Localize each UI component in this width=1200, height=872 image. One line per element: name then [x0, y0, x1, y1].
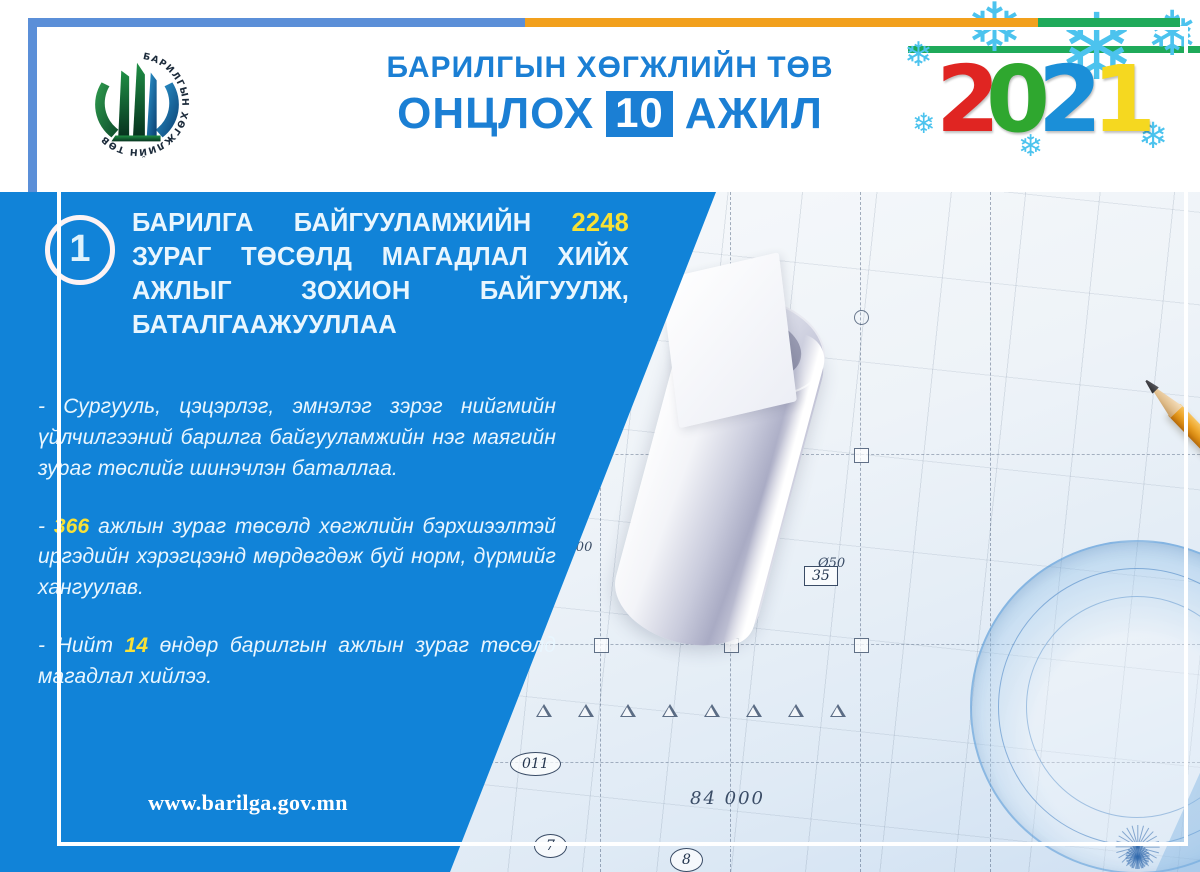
subtitle-before: ОНЦЛОХ: [397, 91, 594, 137]
header-titles: БАРИЛГЫН ХӨГЖЛИЙН ТӨВ ОНЦЛОХ 10 АЖИЛ: [330, 52, 890, 138]
headline-part2: ЗУРАГ ТӨСӨЛД МАГАДЛАЛ ХИЙХ АЖЛЫГ ЗОХИОН …: [132, 243, 629, 339]
triangle-marker: [662, 704, 678, 717]
protractor-ticks: [972, 542, 1200, 872]
blueprint-oval-label: 011: [510, 752, 561, 776]
blueprint-tick-marker: [594, 638, 609, 653]
triangle-marker: [620, 704, 636, 717]
item-number: 1: [69, 230, 90, 268]
item-headline: БАРИЛГА БАЙГУУЛАМЖИЙН 2248 ЗУРАГ ТӨСӨЛД …: [132, 207, 629, 343]
year-artwork: ❄ ❄ ❄ ❄ ❄ ❄ ❄ 2021: [900, 0, 1200, 192]
paragraph-text: ажлын зураг төсөлд хөгжлийн бэрхшээлтэй …: [38, 515, 556, 600]
year-digit: 1: [1092, 54, 1152, 146]
blueprint-tick-marker: [854, 448, 869, 463]
protractor-icon: [970, 540, 1200, 872]
triangle-marker: [830, 704, 846, 717]
paragraph-prefix: - Нийт: [38, 634, 125, 657]
paragraph-highlight: 366: [54, 515, 89, 538]
top-rule-segment-blue: [28, 18, 525, 27]
paragraph-highlight: 14: [125, 634, 149, 657]
body-paragraph: - Нийт 14 өндөр барилгын ажлын зураг төс…: [38, 631, 556, 693]
headline-part1: БАРИЛГА БАЙГУУЛАМЖИЙН: [132, 209, 571, 237]
count-badge: 10: [606, 91, 673, 137]
year-2021: 2021: [936, 54, 1152, 146]
blueprint-dashed-line: [860, 192, 861, 872]
blueprint-oval-label: 7: [534, 834, 567, 858]
item-number-badge: 1: [45, 215, 115, 285]
blueprint-tick-marker: [854, 310, 869, 325]
barilgyn-hogjliin-tuv-logo: БАРИЛГЫН ХӨГЖЛИЙН ТӨВ: [78, 45, 196, 163]
blueprint-dimension: 84 000: [690, 788, 765, 809]
blueprint-oval-label: 8: [670, 848, 703, 872]
paragraph-prefix: -: [38, 515, 54, 538]
header-band: БАРИЛГЫН ХӨГЖЛИЙН ТӨВ БАРИЛГЫН ХӨГЖЛИЙН …: [0, 0, 1200, 192]
subtitle-after: АЖИЛ: [685, 91, 823, 137]
website-url[interactable]: www.barilga.gov.mn: [38, 790, 458, 816]
snowflake-icon: ❄: [912, 110, 935, 138]
header-left-rule: [28, 18, 37, 192]
blueprint-dimension: Ø50: [818, 556, 845, 571]
org-title: БАРИЛГЫН ХӨГЖЛИЙН ТӨВ: [330, 52, 890, 84]
poster-subtitle: ОНЦЛОХ 10 АЖИЛ: [330, 91, 890, 137]
triangle-marker: [704, 704, 720, 717]
body-paragraph: - 366 ажлын зураг төсөлд хөгжлийн бэрхшэ…: [38, 512, 556, 605]
paragraph-text: Сургууль, цэцэрлэг, эмнэлэг зэрэг нийгми…: [38, 395, 556, 480]
snowflake-icon: ❄: [904, 38, 933, 72]
top-rule-segment-green: [1038, 18, 1180, 27]
panel-left-rule: [28, 192, 37, 872]
triangle-marker: [746, 704, 762, 717]
snowflake-icon: ❄: [1146, 4, 1198, 66]
top-rule-segment-orange: [525, 18, 1038, 27]
triangle-marker: [578, 704, 594, 717]
triangle-marker: [788, 704, 804, 717]
item-body: - Сургууль, цэцэрлэг, эмнэлэг зэрэг нийг…: [38, 392, 556, 720]
paragraph-prefix: -: [38, 395, 63, 418]
year-digit: 0: [986, 54, 1046, 146]
top-color-rule: [28, 18, 1180, 27]
poster-root: 38 35 37 36 29 77 011 010 7 8 84 000 Ø31…: [0, 0, 1200, 872]
body-paragraph: - Сургууль, цэцэрлэг, эмнэлэг зэрэг нийг…: [38, 392, 556, 485]
year-digit: 2: [1038, 54, 1098, 146]
headline-highlight-number: 2248: [571, 209, 629, 237]
blueprint-tick-marker: [854, 638, 869, 653]
